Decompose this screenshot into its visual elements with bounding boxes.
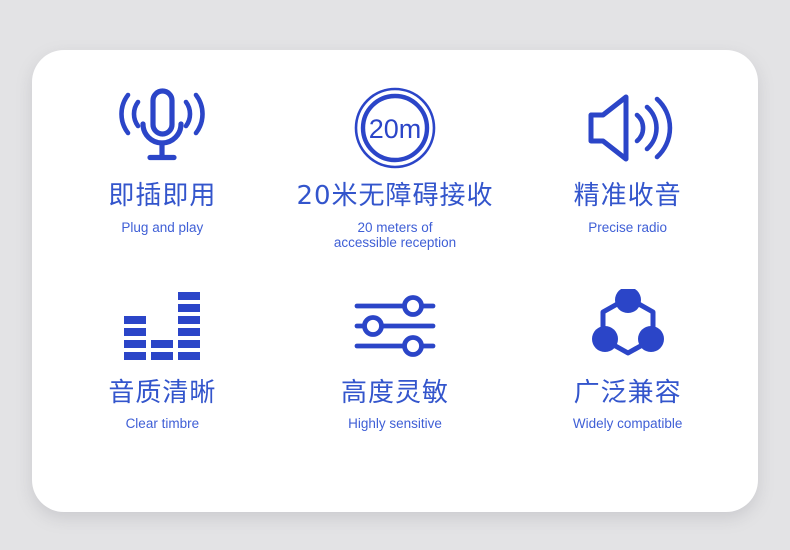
feature-title-cn: 高度灵敏 <box>341 379 449 408</box>
feature-item-plug-and-play: 即插即用 Plug and play <box>46 80 279 283</box>
distance-20m-circle-icon: 20m <box>349 80 441 176</box>
feature-title-en: Widely compatible <box>573 416 683 432</box>
feature-title-en: Clear timbre <box>126 416 200 432</box>
speaker-waves-icon <box>582 80 674 176</box>
page-root: 即插即用 Plug and play 20m 20米无障碍接收 20 meter… <box>0 0 790 550</box>
feature-title-cn: 音质清晰 <box>108 379 216 408</box>
feature-item-clear-timbre: 音质清晰 Clear timbre <box>46 283 279 486</box>
feature-item-widely-compatible: 广泛兼容 Widely compatible <box>511 283 744 486</box>
feature-item-20m-reception: 20m 20米无障碍接收 20 meters of accessible rec… <box>279 80 512 283</box>
feature-title-en: 20 meters of accessible reception <box>334 220 456 251</box>
microphone-icon <box>116 80 208 176</box>
feature-grid: 即插即用 Plug and play 20m 20米无障碍接收 20 meter… <box>32 50 758 512</box>
sliders-icon <box>351 283 439 369</box>
feature-title-cn: 即插即用 <box>108 182 216 211</box>
feature-title-en: Precise radio <box>588 220 667 236</box>
hexagon-nodes-icon <box>589 283 667 369</box>
feature-title-en: Highly sensitive <box>348 416 442 432</box>
equalizer-bars-icon <box>122 283 202 369</box>
feature-card: 即插即用 Plug and play 20m 20米无障碍接收 20 meter… <box>32 50 758 512</box>
feature-item-precise-radio: 精准收音 Precise radio <box>511 80 744 283</box>
feature-title-en: Plug and play <box>121 220 203 236</box>
feature-title-cn: 20米无障碍接收 <box>296 182 493 211</box>
feature-title-cn: 广泛兼容 <box>574 379 682 408</box>
distance-icon-label: 20m <box>369 114 422 144</box>
feature-title-cn: 精准收音 <box>574 182 682 211</box>
feature-item-highly-sensitive: 高度灵敏 Highly sensitive <box>279 283 512 486</box>
